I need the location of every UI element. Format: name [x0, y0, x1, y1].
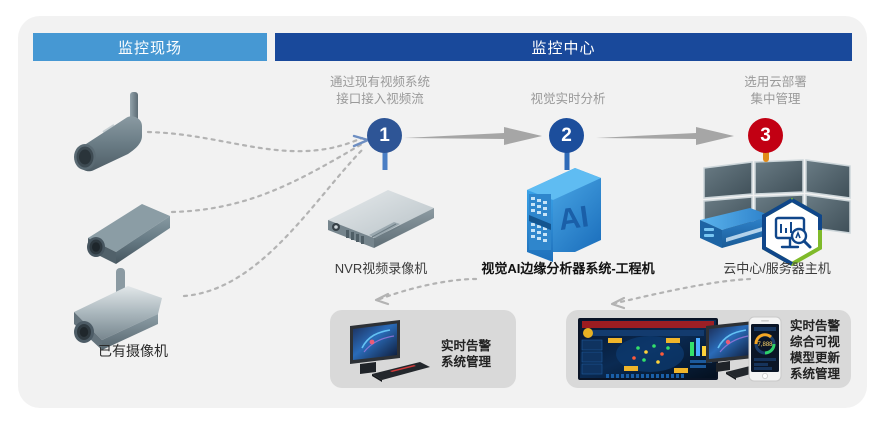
camera-group-caption: 已有摄像机 [48, 341, 218, 361]
note-ingest: 通过现有视频系统 接口接入视频流 [300, 74, 460, 108]
box-camera-icon [68, 196, 188, 268]
ai-server-text: AI [557, 200, 591, 237]
pin-number: 1 [367, 118, 402, 153]
note-analysis: 视觉实时分析 [498, 91, 638, 108]
nvr-device-icon [322, 186, 438, 252]
step-pin-1: 1 [367, 118, 402, 153]
pin-number: 2 [549, 118, 584, 153]
bullet-camera-icon [58, 92, 178, 182]
note-cloud: 选用云部署 集中管理 [698, 74, 853, 108]
ai-server-icon: AI [503, 166, 603, 262]
cloud-center-icon [698, 158, 858, 264]
flow-arrow-1-2 [404, 125, 544, 147]
link-nvr-to-console [366, 275, 486, 315]
header-monitoring-center: 监控中心 [275, 33, 852, 61]
header-monitoring-site: 监控现场 [33, 33, 267, 61]
flow-arrow-2-3 [596, 125, 736, 147]
smartphone-icon: 7,888 [748, 316, 782, 382]
diagram-canvas: 监控现场 监控中心 通过现有视频系统 接口接入视频流 视觉实时分析 选用云部署 … [0, 0, 885, 423]
card-alarm-console-text: 实时告警 系统管理 [424, 338, 508, 370]
pin-number: 3 [748, 118, 783, 153]
dashboard-screen-icon [578, 318, 718, 380]
svg-text:7,888: 7,888 [757, 342, 773, 348]
desktop-pc-icon-left [342, 318, 434, 384]
step-pin-3: 3 [748, 118, 783, 153]
step-pin-2: 2 [549, 118, 584, 153]
card-cloud-console-text: 实时告警 综合可视 模型更新 系统管理 [782, 318, 848, 382]
